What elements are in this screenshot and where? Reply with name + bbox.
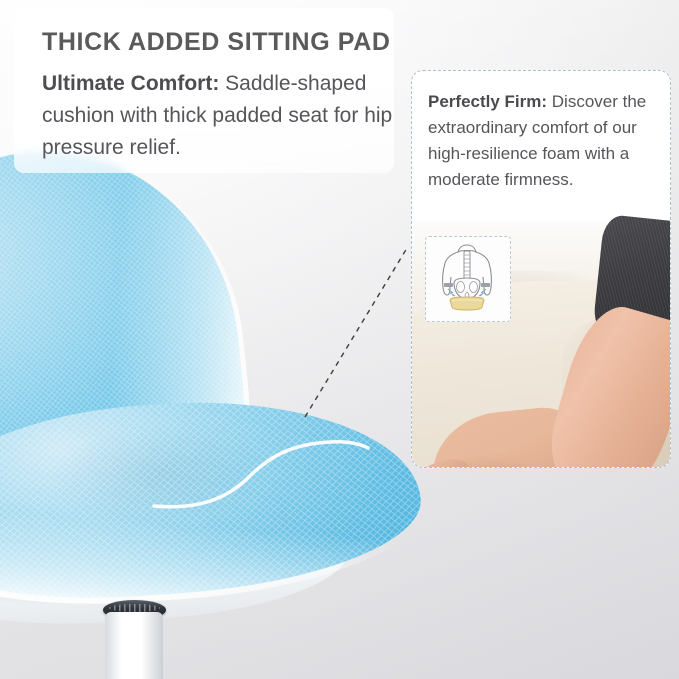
leader-line <box>295 235 420 430</box>
main-caption-lead: Ultimate Comfort: <box>42 72 219 95</box>
callout-caption-lead: Perfectly Firm: <box>428 92 547 111</box>
product-infographic: THICK ADDED SITTING PAD Ultimate Comfort… <box>0 0 679 679</box>
caption-panel: THICK ADDED SITTING PAD Ultimate Comfort… <box>14 8 394 173</box>
page-title: THICK ADDED SITTING PAD <box>42 28 391 57</box>
main-caption: Ultimate Comfort: Saddle-shaped cushion … <box>42 68 412 164</box>
hand-shading <box>442 449 562 468</box>
spine-pelvis-icon <box>426 237 508 319</box>
firmness-callout: Perfectly Firm: Discover the extraordina… <box>411 70 671 468</box>
callout-caption: Perfectly Firm: Discover the extraordina… <box>428 89 660 193</box>
posture-diagram-inset <box>425 236 511 322</box>
